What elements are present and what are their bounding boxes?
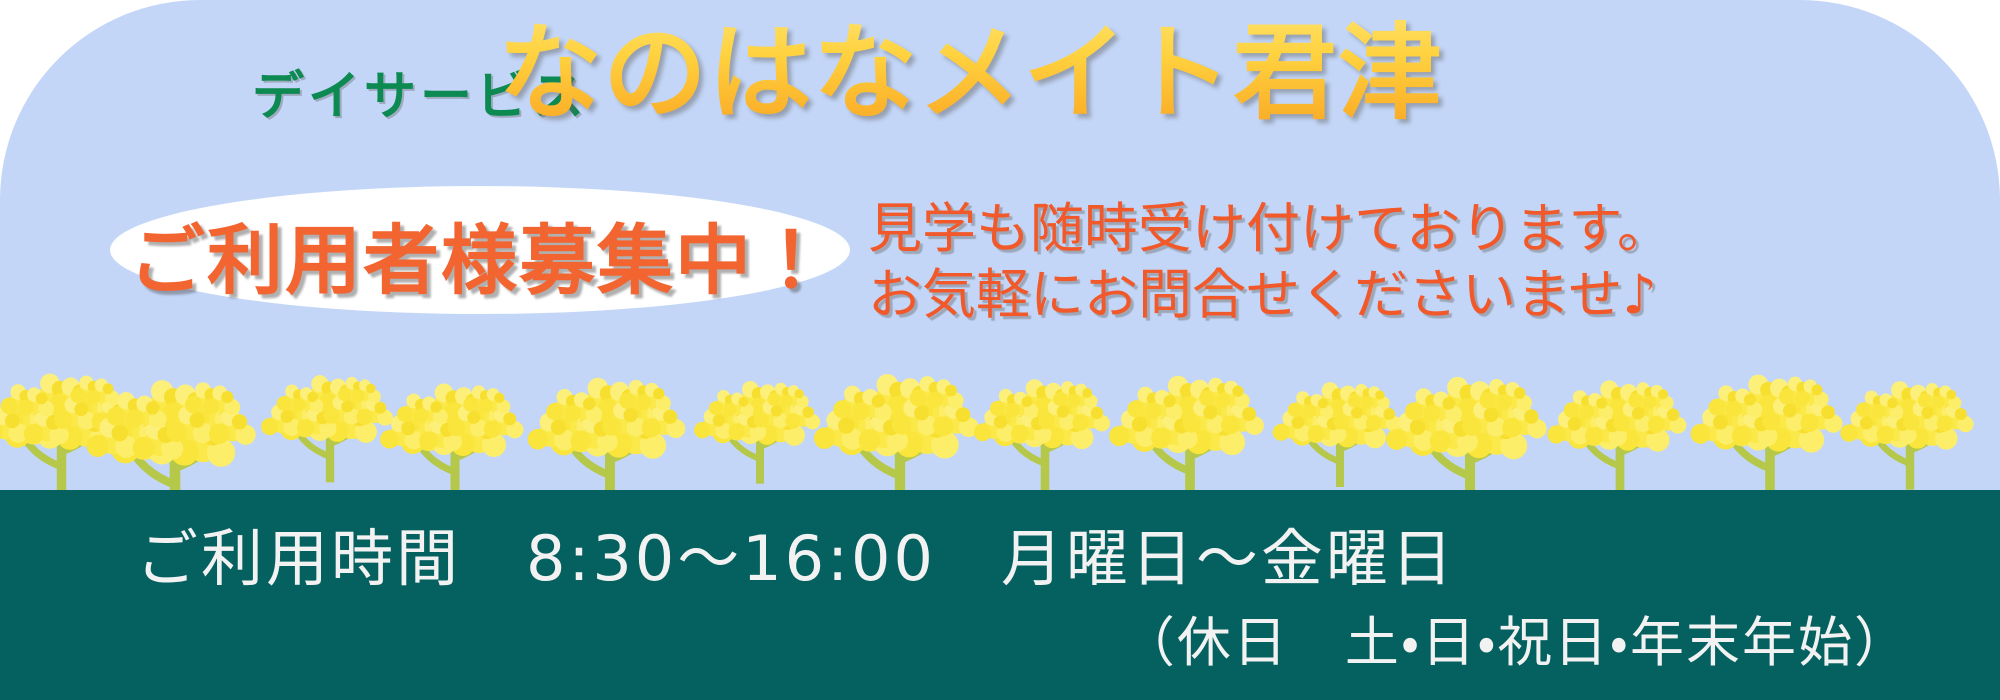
business-hours-bar: ご利用時間 8:30〜16:00 月曜日〜金曜日 （休日 土・日・祝日・年末年始… bbox=[0, 490, 2000, 700]
inquiry-message-line2: お気軽にお問合せくださいませ♪ bbox=[868, 262, 1671, 328]
recruit-headline: ご利用者様募集中！ bbox=[110, 199, 850, 309]
holiday-text: （休日 土・日・祝日・年末年始） bbox=[1121, 598, 1910, 677]
facility-name-title: なのはなメイト君津 bbox=[498, 14, 1443, 134]
facility-banner: デイサービス なのはなメイト君津 ご利用者様募集中！ 見学も随時受け付けておりま… bbox=[0, 0, 2000, 700]
inquiry-message: 見学も随時受け付けております。 お気軽にお問合せくださいませ♪ bbox=[868, 196, 1671, 328]
inquiry-message-line1: 見学も随時受け付けております。 bbox=[868, 197, 1671, 260]
nanohana-flower-band bbox=[0, 370, 2000, 490]
sky-panel: デイサービス なのはなメイト君津 ご利用者様募集中！ 見学も随時受け付けておりま… bbox=[0, 0, 2000, 490]
business-hours-text: ご利用時間 8:30〜16:00 月曜日〜金曜日 bbox=[136, 508, 1456, 598]
